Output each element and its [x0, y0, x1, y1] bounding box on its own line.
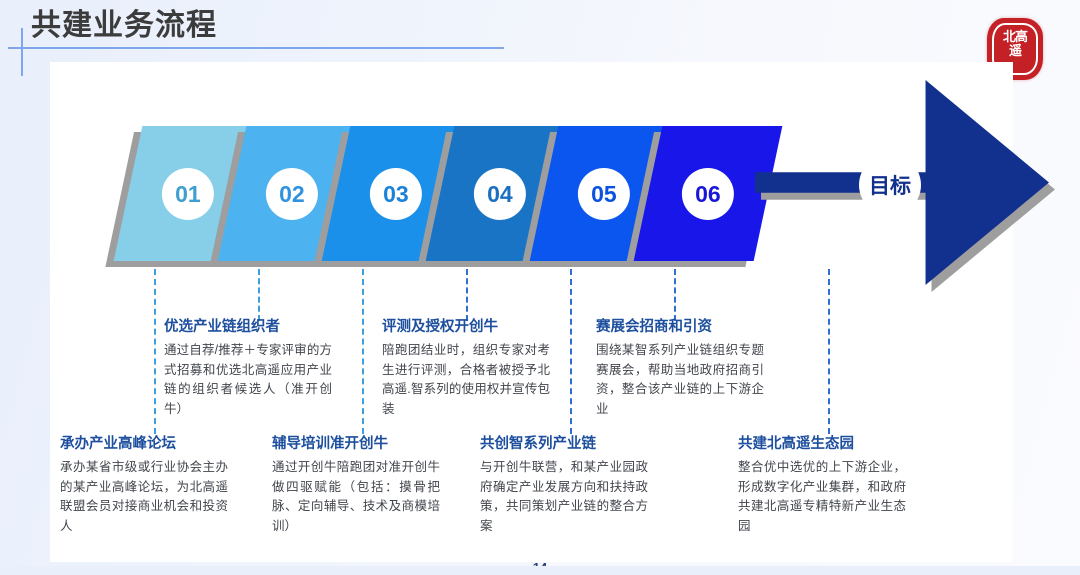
flow-target-arrow[interactable]: 目标 [755, 80, 1055, 292]
flow-target-label: 目标 [869, 170, 911, 200]
step-detail-03: 辅导培训准开创牛 通过开创牛陪跑团对准开创牛做四驱赋能（包括：摸骨把脉、定向辅导… [272, 434, 440, 536]
bottom-strip [0, 566, 1080, 575]
step-detail-01-title: 承办产业高峰论坛 [60, 434, 228, 454]
page-title: 共建业务流程 [31, 6, 217, 46]
flow-step-03-badge: 03 [370, 168, 422, 220]
header-accent-horizontal-line [8, 47, 504, 49]
step-detail-04-title: 评测及授权开创牛 [382, 317, 550, 337]
seal-text-line2: 遥 [994, 44, 1036, 58]
flow-step-03-number: 03 [383, 181, 409, 208]
connector-line-06 [674, 269, 676, 321]
step-detail-06-desc: 围绕某智系列产业链组织专题赛展会，帮助当地政府招商引资，整合该产业链的上下游企业 [596, 341, 764, 419]
connector-line-01 [154, 269, 156, 434]
step-detail-02-title: 优选产业链组织者 [164, 317, 332, 337]
step-detail-01-desc: 承办某省市级或行业协会主办的某产业高峰论坛，为北高遥联盟会员对接商业机会和投资人 [60, 458, 228, 536]
flow-step-06-number: 06 [695, 181, 721, 208]
step-detail-07-title: 共建北高遥生态园 [738, 434, 906, 454]
step-detail-04: 评测及授权开创牛 陪跑团结业时，组织专家对考生进行评测，合格者被授予北高遥.智系… [382, 317, 550, 419]
flow-step-04-badge: 04 [474, 168, 526, 220]
step-detail-05: 共创智系列产业链 与开创牛联营，和某产业园政府确定产业发展方向和扶持政策，共同策… [480, 434, 648, 536]
step-detail-05-desc: 与开创牛联营，和某产业园政府确定产业发展方向和扶持政策，共同策划产业链的整合方案 [480, 458, 648, 536]
flow-step-02-badge: 02 [266, 168, 318, 220]
step-detail-05-title: 共创智系列产业链 [480, 434, 648, 454]
connector-line-05 [570, 269, 572, 434]
process-flow-band: 01 02 03 [50, 62, 1013, 292]
flow-step-05-number: 05 [591, 181, 617, 208]
flow-step-05-badge: 05 [578, 168, 630, 220]
flow-target-badge: 目标 [859, 154, 921, 216]
step-detail-06: 赛展会招商和引资 围绕某智系列产业链组织专题赛展会，帮助当地政府招商引资，整合该… [596, 317, 764, 419]
header-accent-vertical-line [21, 28, 23, 76]
connector-line-03 [362, 269, 364, 434]
slide-canvas: 共建业务流程 北高 遥 01 02 [0, 0, 1080, 575]
step-detail-07: 共建北高遥生态园 整合优中选优的上下游企业，形成数字化产业集群，和政府共建北高遥… [738, 434, 906, 536]
step-detail-01: 承办产业高峰论坛 承办某省市级或行业协会主办的某产业高峰论坛，为北高遥联盟会员对… [60, 434, 228, 536]
connector-line-02 [258, 269, 260, 321]
step-detail-06-title: 赛展会招商和引资 [596, 317, 764, 337]
step-detail-07-desc: 整合优中选优的上下游企业，形成数字化产业集群，和政府共建北高遥专精特新产业生态园 [738, 458, 906, 536]
flow-step-04-number: 04 [487, 181, 513, 208]
step-detail-03-title: 辅导培训准开创牛 [272, 434, 440, 454]
seal-text-line1: 北高 [994, 30, 1036, 44]
connector-line-07 [828, 269, 830, 434]
connector-line-04 [466, 269, 468, 321]
flow-step-01-number: 01 [175, 181, 201, 208]
flow-step-02-number: 02 [279, 181, 305, 208]
flow-step-01-badge: 01 [162, 168, 214, 220]
content-card: 01 02 03 [50, 62, 1013, 562]
flow-step-06-badge: 06 [682, 168, 734, 220]
step-detail-04-desc: 陪跑团结业时，组织专家对考生进行评测，合格者被授予北高遥.智系列的使用权并宣传包… [382, 341, 550, 419]
step-detail-02: 优选产业链组织者 通过自荐/推荐＋专家评审的方式招募和优选北高遥应用产业链的组织… [164, 317, 332, 419]
step-detail-02-desc: 通过自荐/推荐＋专家评审的方式招募和优选北高遥应用产业链的组织者候选人（准开创牛… [164, 341, 332, 419]
step-detail-03-desc: 通过开创牛陪跑团对准开创牛做四驱赋能（包括：摸骨把脉、定向辅导、技术及商模培训） [272, 458, 440, 536]
